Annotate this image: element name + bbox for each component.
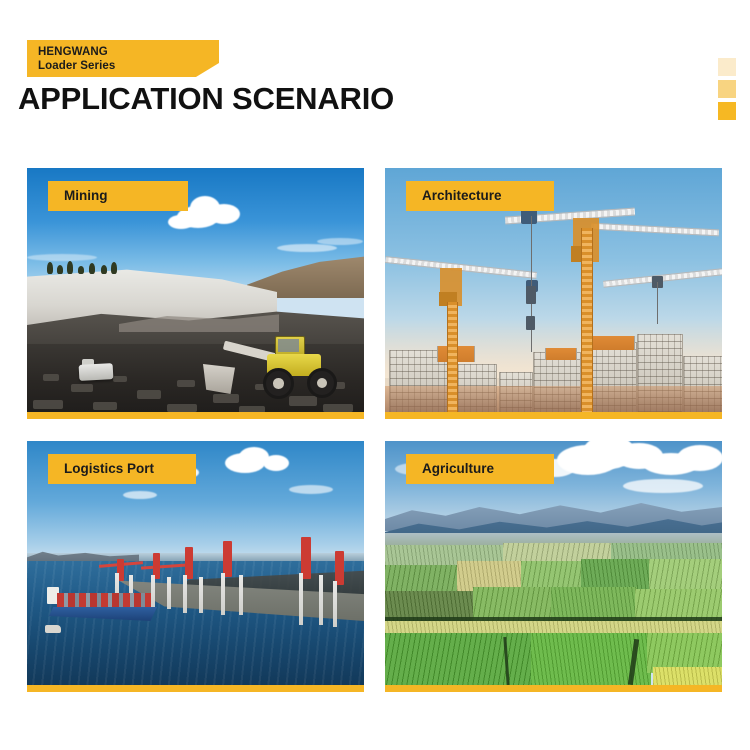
scenario-card-grid: Mining (27, 168, 723, 692)
field (551, 587, 637, 621)
crane-mast (581, 228, 593, 412)
cloud-icon (277, 244, 337, 252)
container-stack (57, 593, 151, 608)
decorative-squares (718, 58, 736, 124)
gantry-leg (199, 577, 203, 613)
card-label-architecture: Architecture (406, 181, 554, 211)
building-formwork (545, 348, 577, 360)
gantry-leg (333, 581, 337, 627)
tugboat (45, 625, 61, 633)
crane-hook (526, 286, 536, 304)
card-bottom-bar (385, 685, 722, 692)
haul-vehicle (79, 363, 114, 381)
gantry-head (335, 551, 344, 585)
cloud-icon (317, 238, 363, 245)
cloud-icon (123, 491, 157, 499)
gantry-leg (221, 573, 225, 615)
square-light-icon (718, 58, 736, 76)
cloud-icon (263, 455, 289, 471)
field (649, 559, 722, 591)
gantry-leg (183, 575, 187, 613)
loader-cab-glass (278, 339, 299, 352)
scenario-card-agriculture[interactable]: Agriculture (385, 441, 722, 692)
card-label-logistics-port: Logistics Port (48, 454, 196, 484)
brand-name: HENGWANG (38, 46, 108, 58)
field (653, 667, 722, 685)
gantry-leg (299, 573, 303, 625)
brand-series: Loader Series (38, 60, 115, 72)
cloud-icon (208, 204, 240, 224)
page-title: APPLICATION SCENARIO (18, 83, 394, 114)
crane-mast (447, 302, 458, 412)
cloud-icon (677, 445, 722, 471)
field (473, 587, 555, 621)
square-medium-icon (718, 80, 736, 98)
brand-banner: HENGWANG Loader Series (27, 40, 219, 77)
crane-cable (531, 216, 532, 292)
field (385, 565, 459, 593)
gantry-leg (239, 575, 243, 615)
card-label-agriculture: Agriculture (406, 454, 554, 484)
scenario-card-architecture[interactable]: Architecture (385, 168, 722, 419)
loader-wheel (263, 368, 294, 399)
cloud-icon (623, 479, 703, 493)
scenario-card-logistics-port[interactable]: Logistics Port (27, 441, 364, 692)
gantry-leg (151, 575, 155, 609)
gantry-leg (319, 575, 323, 625)
gantry-leg (167, 577, 171, 609)
square-solid-icon (718, 102, 736, 120)
distant-skyline (385, 386, 722, 412)
gantry-head (223, 541, 232, 577)
loader-bucket (203, 364, 235, 394)
card-label-mining: Mining (48, 181, 188, 211)
field (385, 633, 535, 685)
card-bottom-bar (27, 412, 364, 419)
crane-cable (657, 282, 658, 324)
crane-hook (526, 316, 535, 330)
scenario-card-mining[interactable]: Mining (27, 168, 364, 419)
cloud-icon (168, 215, 194, 229)
page-header: HENGWANG Loader Series APPLICATION SCENA… (0, 0, 750, 150)
building-formwork (591, 336, 635, 350)
cloud-icon (289, 485, 333, 494)
tree-line (45, 260, 121, 274)
card-bottom-bar (27, 685, 364, 692)
card-bottom-bar (385, 412, 722, 419)
loader-wheel (307, 368, 337, 398)
